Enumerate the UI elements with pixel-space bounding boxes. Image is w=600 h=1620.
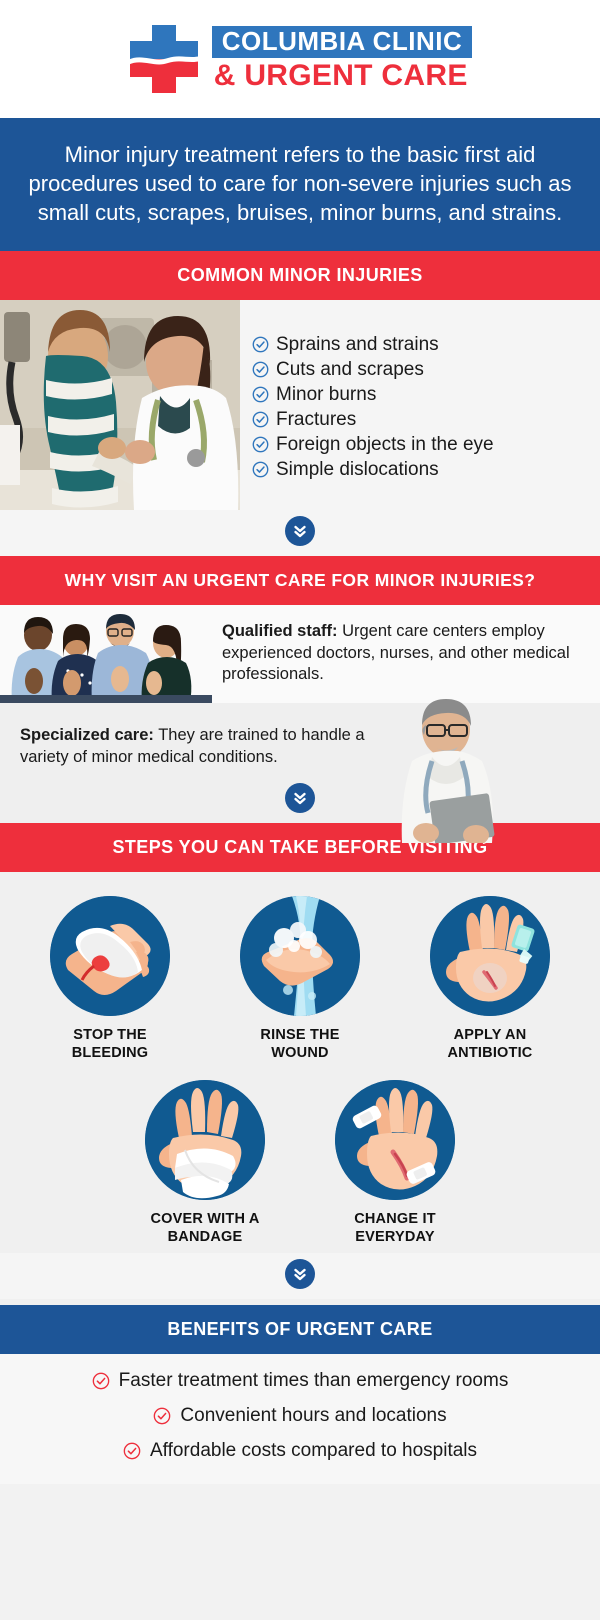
steps-section: STOP THE BLEEDING — [0, 872, 600, 1305]
step-label-line2: EVERYDAY — [354, 1228, 436, 1246]
double-chevron-down-icon[interactable] — [285, 1259, 315, 1289]
hand-with-ointment-tube-icon — [430, 896, 550, 1016]
step-label: RINSE THE WOUND — [260, 1026, 339, 1062]
infographic-page: COLUMBIA CLINIC & URGENT CARE Minor inju… — [0, 0, 600, 1620]
why-visit-point-1-text: Qualified staff: Urgent care centers emp… — [212, 613, 600, 691]
senior-doctor-photo — [372, 695, 522, 843]
list-item: Fractures — [252, 409, 590, 431]
section-divider-2 — [285, 783, 315, 813]
section-heading-why-visit: WHY VISIT AN URGENT CARE FOR MINOR INJUR… — [0, 556, 600, 605]
list-item: Convenient hours and locations — [153, 1405, 446, 1427]
benefit-label: Affordable costs compared to hospitals — [150, 1440, 477, 1462]
why-visit-point-2: Specialized care: They are trained to ha… — [0, 703, 600, 823]
step-rinse-the-wound: RINSE THE WOUND — [226, 896, 374, 1062]
list-item: Simple dislocations — [252, 459, 590, 481]
circle-check-icon — [123, 1442, 141, 1460]
doctor-examining-patient-photo — [0, 300, 240, 510]
double-chevron-down-icon[interactable] — [285, 516, 315, 546]
step-label-line2: BLEEDING — [72, 1044, 149, 1062]
list-item-label: Minor burns — [276, 384, 376, 406]
list-item-label: Foreign objects in the eye — [276, 434, 494, 456]
circle-check-icon — [252, 411, 269, 428]
step-label-line2: WOUND — [260, 1044, 339, 1062]
section-heading-common-injuries: COMMON MINOR INJURIES — [0, 251, 600, 300]
common-injuries-list: Sprains and strains Cuts and scrapes Min… — [240, 300, 600, 510]
why-visit-point-1-label: Qualified staff: — [222, 622, 338, 640]
list-item-label: Sprains and strains — [276, 334, 439, 356]
step-label-line2: ANTIBIOTIC — [448, 1044, 533, 1062]
section-divider-3 — [0, 1253, 600, 1299]
circle-check-icon — [252, 386, 269, 403]
step-cover-with-a-bandage: COVER WITH A BANDAGE — [131, 1080, 279, 1246]
circle-check-icon — [252, 336, 269, 353]
medical-cross-icon — [128, 23, 200, 95]
group-thumbs-up-photo — [0, 613, 212, 703]
section-divider-1 — [0, 510, 600, 556]
step-label: COVER WITH A BANDAGE — [151, 1210, 260, 1246]
benefit-label: Faster treatment times than emergency ro… — [119, 1370, 509, 1392]
step-label-line1: CHANGE IT — [354, 1210, 436, 1228]
brand-wordmark: COLUMBIA CLINIC & URGENT CARE — [212, 26, 473, 92]
step-label: APPLY AN ANTIBIOTIC — [448, 1026, 533, 1062]
circle-check-icon — [252, 436, 269, 453]
common-injuries-section: Sprains and strains Cuts and scrapes Min… — [0, 300, 600, 510]
steps-row-2: COVER WITH A BANDAGE — [0, 1080, 600, 1246]
why-visit-point-2-label: Specialized care: — [20, 726, 154, 744]
step-label-line2: BANDAGE — [151, 1228, 260, 1246]
step-label-line1: RINSE THE — [260, 1026, 339, 1044]
circle-check-icon — [92, 1372, 110, 1390]
section-heading-benefits: BENEFITS OF URGENT CARE — [0, 1305, 600, 1354]
step-stop-the-bleeding: STOP THE BLEEDING — [36, 896, 184, 1062]
brand-name-line1: COLUMBIA CLINIC — [212, 26, 473, 58]
list-item: Minor burns — [252, 384, 590, 406]
list-item: Cuts and scrapes — [252, 359, 590, 381]
benefit-label: Convenient hours and locations — [180, 1405, 446, 1427]
brand-name-line2: & URGENT CARE — [212, 60, 473, 92]
step-label-line1: COVER WITH A — [151, 1210, 260, 1228]
step-label: STOP THE BLEEDING — [72, 1026, 149, 1062]
steps-row-1: STOP THE BLEEDING — [0, 896, 600, 1062]
step-label-line1: STOP THE — [72, 1026, 149, 1044]
step-change-it-everyday: CHANGE IT EVERYDAY — [321, 1080, 469, 1246]
step-label-line1: APPLY AN — [448, 1026, 533, 1044]
list-item-label: Fractures — [276, 409, 356, 431]
list-item: Foreign objects in the eye — [252, 434, 590, 456]
circle-check-icon — [252, 461, 269, 478]
list-item: Faster treatment times than emergency ro… — [92, 1370, 509, 1392]
circle-check-icon — [153, 1407, 171, 1425]
circle-check-icon — [252, 361, 269, 378]
benefits-section: Faster treatment times than emergency ro… — [0, 1354, 600, 1484]
why-visit-point-2-text: Specialized care: They are trained to ha… — [20, 725, 410, 769]
hand-with-adhesive-bandages-icon — [335, 1080, 455, 1200]
bandaged-hand-icon — [145, 1080, 265, 1200]
list-item: Sprains and strains — [252, 334, 590, 356]
intro-banner: Minor injury treatment refers to the bas… — [0, 118, 600, 251]
brand-logo[interactable]: COLUMBIA CLINIC & URGENT CARE — [128, 23, 473, 95]
hand-washing-under-water-icon — [240, 896, 360, 1016]
step-label: CHANGE IT EVERYDAY — [354, 1210, 436, 1246]
list-item-label: Cuts and scrapes — [276, 359, 424, 381]
hand-with-gauze-pad-icon — [50, 896, 170, 1016]
site-header: COLUMBIA CLINIC & URGENT CARE — [0, 0, 600, 118]
list-item: Affordable costs compared to hospitals — [123, 1440, 477, 1462]
step-apply-an-antibiotic: APPLY AN ANTIBIOTIC — [416, 896, 564, 1062]
why-visit-section: Qualified staff: Urgent care centers emp… — [0, 605, 600, 823]
double-chevron-down-icon[interactable] — [285, 783, 315, 813]
why-visit-point-1: Qualified staff: Urgent care centers emp… — [0, 605, 600, 703]
list-item-label: Simple dislocations — [276, 459, 439, 481]
